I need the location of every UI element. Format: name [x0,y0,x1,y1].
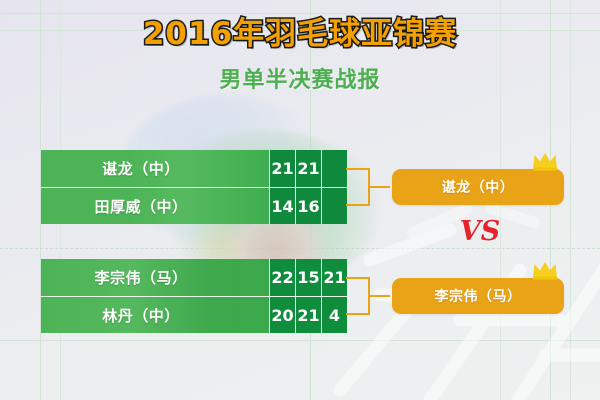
score-game-3 [321,150,347,187]
crown-icon [532,152,558,171]
score-game-3: 21 [321,259,347,296]
score-game-3: 4 [321,297,347,333]
table-row[interactable]: 李宗伟（马） 22 15 21 [41,259,346,296]
bracket-connector-2 [346,277,370,315]
court-hline-net [0,248,600,249]
infographic-canvas: 2016年羽毛球亚锦赛 男单半决赛战报 谌龙（中） 21 21 田厚威（中） 1… [0,0,600,400]
player-name: 谌龙（中） [41,150,269,187]
winner-card-semifinal-2[interactable]: 李宗伟（马） [392,278,564,314]
court-vline-right-edge [570,0,571,400]
score-game-1: 14 [269,188,295,224]
bracket-connector-1 [346,168,370,206]
score-game-1: 20 [269,297,295,333]
winner-name: 李宗伟（马） [435,286,522,306]
player-name: 田厚威（中） [41,188,269,224]
score-game-3 [321,188,347,224]
table-row[interactable]: 田厚威（中） 14 16 [41,187,346,224]
title-block: 2016年羽毛球亚锦赛 [0,8,600,53]
score-game-1: 21 [269,150,295,187]
bracket-connector-stub [368,186,390,188]
court-hline-bottom [0,340,600,341]
player-name: 林丹（中） [41,297,269,333]
match-semifinal-1: 谌龙（中） 21 21 田厚威（中） 14 16 [41,150,346,224]
vs-label: VS [440,216,520,247]
table-row[interactable]: 谌龙（中） 21 21 [41,150,346,187]
page-subtitle: 男单半决赛战报 [0,62,600,94]
winner-name: 谌龙（中） [442,177,515,197]
table-row[interactable]: 林丹（中） 20 21 4 [41,296,346,333]
score-game-2: 21 [295,297,321,333]
page-title: 2016年羽毛球亚锦赛 [143,8,457,53]
score-game-2: 21 [295,150,321,187]
winner-card-semifinal-1[interactable]: 谌龙（中） [392,169,564,205]
score-game-2: 15 [295,259,321,296]
player-name: 李宗伟（马） [41,259,269,296]
score-game-2: 16 [295,188,321,224]
bracket-connector-stub [368,295,390,297]
match-semifinal-2: 李宗伟（马） 22 15 21 林丹（中） 20 21 4 [41,259,346,333]
score-game-1: 22 [269,259,295,296]
crown-icon [532,261,558,280]
